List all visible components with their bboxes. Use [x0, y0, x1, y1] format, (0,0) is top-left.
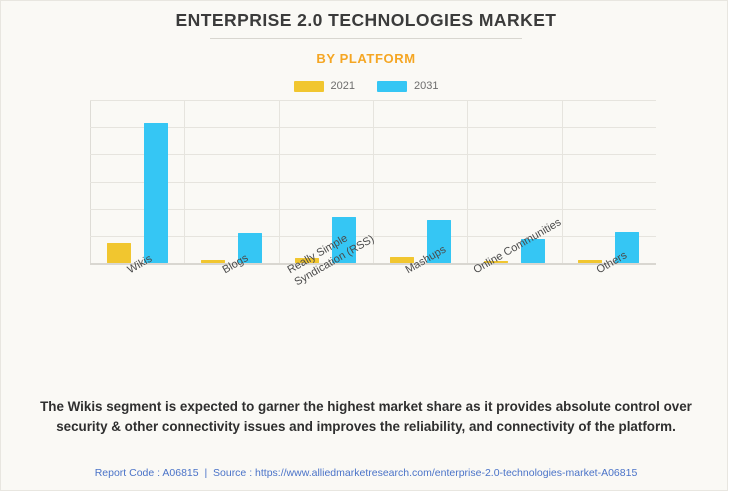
chart-title: ENTERPRISE 2.0 TECHNOLOGIES MARKET [1, 10, 728, 31]
legend-label-2021: 2021 [331, 80, 355, 92]
chart-subtitle: BY PLATFORM [1, 51, 728, 66]
legend-swatch-2031 [377, 81, 407, 92]
chart-card: ENTERPRISE 2.0 TECHNOLOGIES MARKET BY PL… [0, 0, 728, 491]
legend-swatch-2021 [294, 81, 324, 92]
bar-2021-wikis[interactable] [107, 243, 131, 263]
bar-group [90, 100, 184, 263]
legend-item-2031[interactable]: 2031 [377, 80, 438, 92]
bar-group [184, 100, 278, 263]
footer-source: Report Code : A06815 | Source : https://… [1, 467, 728, 479]
legend-label-2031: 2031 [414, 80, 438, 92]
bar-group [373, 100, 467, 263]
bar-group [562, 100, 656, 263]
x-axis-labels: WikisBlogsReally Simple Syndication (RSS… [90, 265, 656, 335]
bar-2031-wikis[interactable] [144, 123, 168, 263]
legend-item-2021[interactable]: 2021 [294, 80, 355, 92]
chart-legend: 2021 2031 [1, 80, 728, 92]
chart-caption: The Wikis segment is expected to garner … [23, 397, 709, 437]
title-divider [210, 38, 522, 39]
